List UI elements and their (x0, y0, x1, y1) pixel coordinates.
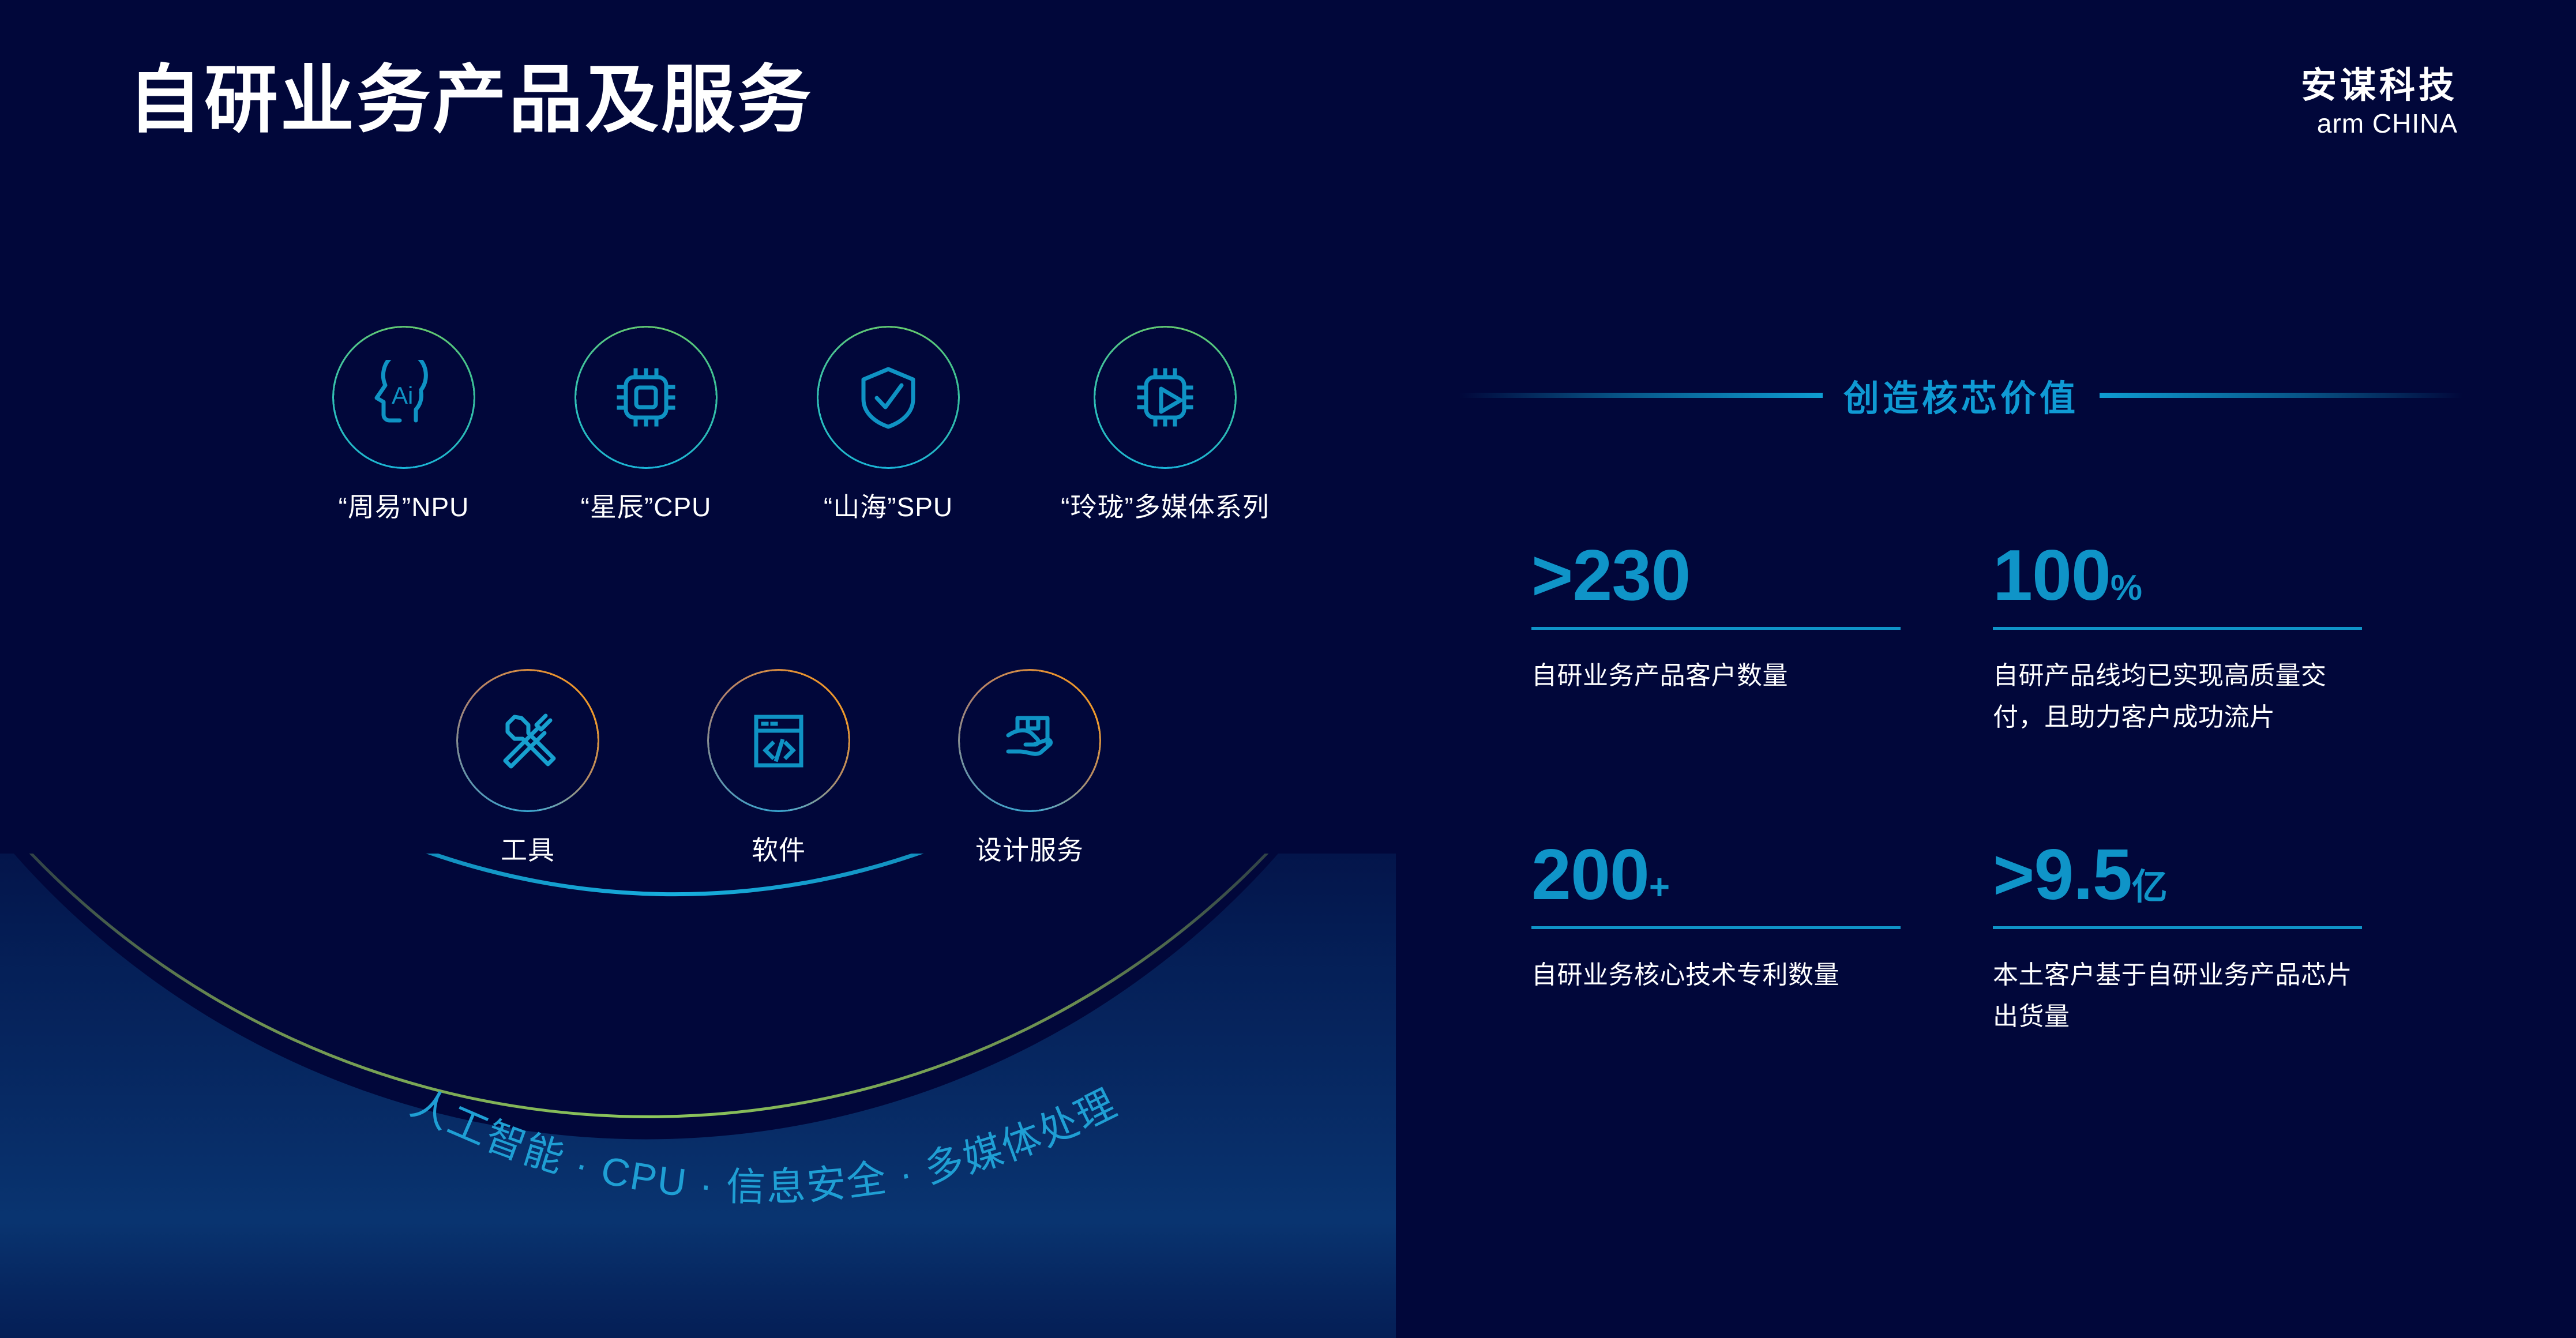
stat-card-delivery: 100% 自研产品线均已实现高质量交付，且助力客户成功流片 (1993, 539, 2362, 738)
stat-card-shipments: >9.5亿 本土客户基于自研业务产品芯片出货量 (1993, 839, 2362, 1037)
ai-head-icon: Ai (366, 360, 441, 435)
product-circle-multimedia (1094, 326, 1237, 469)
code-window-icon (741, 703, 816, 778)
stat-value-delivery: 100% (1993, 539, 2362, 612)
product-item-multimedia[interactable]: “玲珑”多媒体系列 (1044, 326, 1286, 524)
product-item-software[interactable]: 软件 (692, 669, 865, 867)
decorative-arc-group (0, 854, 1442, 1338)
svg-text:Ai: Ai (392, 382, 413, 409)
product-circle-software (707, 669, 850, 812)
product-item-spu[interactable]: “山海”SPU (802, 326, 975, 524)
stat-desc-delivery: 自研产品线均已实现高质量交付，且助力客户成功流片 (1993, 655, 2362, 738)
hand-box-icon (992, 703, 1067, 778)
product-label-multimedia: “玲珑”多媒体系列 (1044, 486, 1286, 524)
product-label-cpu: “星辰”CPU (559, 486, 733, 524)
product-circle-npu: Ai (332, 326, 475, 469)
product-item-tools[interactable]: 工具 (441, 669, 614, 867)
logo-china-text: CHINA (2372, 108, 2458, 138)
logo-arm-text: arm (2317, 108, 2364, 138)
product-circle-cpu (574, 326, 718, 469)
product-label-spu: “山海”SPU (802, 486, 975, 524)
stat-divider (1993, 926, 2362, 929)
product-item-npu[interactable]: Ai “周易”NPU (317, 326, 490, 524)
logo-english-name: arm CHINA (2301, 108, 2458, 140)
stat-desc-customers: 自研业务产品客户数量 (1531, 655, 1901, 696)
stat-value-customers: >230 (1531, 539, 1901, 612)
shield-check-icon (851, 360, 926, 435)
stat-desc-shipments: 本土客户基于自研业务产品芯片出货量 (1993, 954, 2362, 1037)
product-item-design-service[interactable]: 设计服务 (943, 669, 1116, 867)
product-label-npu: “周易”NPU (317, 486, 490, 524)
stat-card-patents: 200+ 自研业务核心技术专利数量 (1531, 839, 1901, 1037)
product-item-cpu[interactable]: “星辰”CPU (559, 326, 733, 524)
product-circle-spu (817, 326, 960, 469)
panel-divider-left (1459, 393, 1823, 398)
product-label-design-service: 设计服务 (943, 829, 1116, 867)
wrench-screwdriver-icon (490, 703, 565, 778)
stat-desc-patents: 自研业务核心技术专利数量 (1531, 954, 1901, 995)
stat-value-shipments: >9.5亿 (1993, 839, 2362, 911)
media-chip-play-icon (1128, 360, 1203, 435)
brand-logo: 安谋科技 arm CHINA (2301, 67, 2458, 140)
stat-divider (1531, 627, 1901, 630)
arc-svg (0, 854, 1442, 1338)
product-circle-tools (456, 669, 599, 812)
product-label-software: 软件 (692, 829, 865, 867)
panel-title: 创造核芯价值 (1843, 369, 2079, 421)
cpu-chip-icon (609, 360, 684, 435)
panel-divider-right (2100, 393, 2463, 398)
stats-section: >230 自研业务产品客户数量 100% 自研产品线均已实现高质量交付，且助力客… (1531, 539, 2466, 1037)
stat-divider (1531, 926, 1901, 929)
logo-chinese-name: 安谋科技 (2301, 67, 2458, 104)
product-circle-design-service (958, 669, 1101, 812)
stat-divider (1993, 627, 2362, 630)
product-label-tools: 工具 (441, 829, 614, 867)
stat-card-customers: >230 自研业务产品客户数量 (1531, 539, 1901, 738)
stat-suffix: + (1649, 867, 1670, 907)
stat-suffix: 亿 (2132, 867, 2168, 907)
stat-value-patents: 200+ (1531, 839, 1901, 911)
panel-header: 创造核芯价值 (1459, 369, 2463, 421)
stat-suffix: % (2111, 568, 2142, 608)
page-title: 自研业务产品及服务 (128, 63, 813, 137)
slide-root: 人工智能 · CPU · 信息安全 · 多媒体处理 自研业务产品及服务 安谋科技… (0, 0, 2576, 1338)
